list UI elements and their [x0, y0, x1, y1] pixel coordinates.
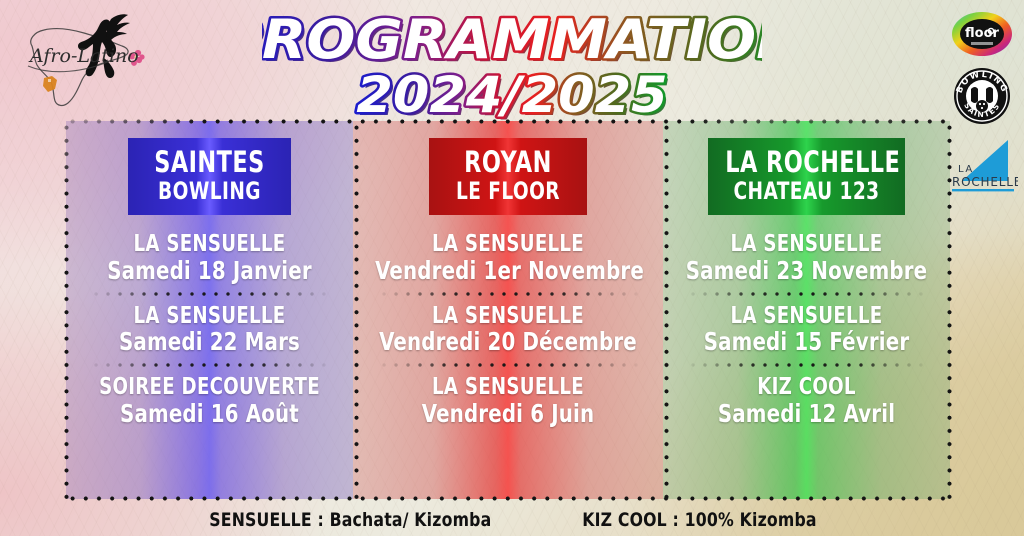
- event-item: LA SENSUELLE Samedi 18 Janvier: [70, 231, 349, 283]
- event-separator: [687, 287, 927, 301]
- venue-header-la-rochelle: LA ROCHELLE CHATEAU 123: [708, 138, 905, 215]
- event-name: LA SENSUELLE: [375, 305, 641, 328]
- legend-value: 100% Kizomba: [685, 509, 817, 531]
- frame-border-bottom: [66, 495, 950, 502]
- le-floor-label: floor: [965, 26, 999, 41]
- event-item: LA SENSUELLE Vendredi 20 Décembre: [357, 303, 659, 355]
- brand-wordmark: Afro-Latino: [28, 45, 139, 67]
- event-name: LA SENSUELLE: [375, 233, 641, 256]
- title-line2: 2024/2025: [356, 66, 667, 124]
- event-item: LA SENSUELLE Samedi 23 Novembre: [667, 231, 946, 283]
- event-name: LA SENSUELLE: [87, 305, 333, 328]
- event-name: LA SENSUELLE: [375, 376, 641, 399]
- legend-separator: :: [312, 509, 330, 531]
- bowling-saintes-logo[interactable]: BOWLING SAINTES: [953, 67, 1011, 125]
- legend-term: KIZ COOL: [582, 509, 667, 531]
- afro-latino-logo: Afro-Latino: [8, 6, 158, 112]
- event-date: Samedi 23 Novembre: [684, 257, 930, 284]
- event-date: Vendredi 6 Juin: [375, 400, 641, 427]
- event-list: LA SENSUELLE Samedi 23 Novembre LA SENSU…: [663, 231, 950, 426]
- programme-frame: SAINTES BOWLING LA SENSUELLE Samedi 18 J…: [66, 121, 950, 499]
- title-line1: PROGRAMMATION: [262, 9, 762, 72]
- event-item: LA SENSUELLE Vendredi 6 Juin: [357, 374, 659, 426]
- la-rochelle-label-top: LA: [958, 164, 974, 175]
- event-separator: [90, 358, 330, 372]
- event-name: KIZ COOL: [684, 376, 930, 399]
- event-item: LA SENSUELLE Vendredi 1er Novembre: [357, 231, 659, 283]
- event-separator: [378, 358, 638, 372]
- event-name: LA SENSUELLE: [684, 305, 930, 328]
- la-rochelle-logo[interactable]: LA ROCHELLE: [946, 134, 1018, 198]
- venue-column-la-rochelle: LA ROCHELLE CHATEAU 123 LA SENSUELLE Sam…: [663, 121, 950, 499]
- event-separator: [687, 358, 927, 372]
- venue-place: CHATEAU 123: [725, 179, 888, 204]
- event-name: LA SENSUELLE: [87, 233, 333, 256]
- venue-logos-group: floor BOWLING SAINTES: [942, 10, 1022, 207]
- venue-header-saintes: SAINTES BOWLING: [128, 138, 291, 215]
- poster-header: Afro-Latino: [0, 0, 1024, 124]
- le-floor-logo[interactable]: floor: [951, 10, 1013, 58]
- event-separator: [90, 287, 330, 301]
- legend-value: Bachata/ Kizomba: [330, 509, 492, 531]
- venue-place: BOWLING: [143, 179, 276, 204]
- venue-header-royan: ROYAN LE FLOOR: [429, 138, 587, 215]
- event-date: Samedi 22 Mars: [87, 328, 333, 355]
- poster-title-block: PROGRAMMATION PROGRAMMATION 2024/2025 20…: [262, 8, 762, 124]
- event-date: Vendredi 20 Décembre: [375, 328, 641, 355]
- venue-city: ROYAN: [444, 148, 573, 177]
- event-name: LA SENSUELLE: [684, 233, 930, 256]
- event-date: Samedi 16 Août: [87, 400, 333, 427]
- event-list: LA SENSUELLE Vendredi 1er Novembre LA SE…: [353, 231, 663, 426]
- venue-column-royan: ROYAN LE FLOOR LA SENSUELLE Vendredi 1er…: [353, 121, 663, 499]
- legend-kiz-cool: KIZ COOL : 100% Kizomba: [582, 509, 817, 531]
- event-item: LA SENSUELLE Samedi 22 Mars: [70, 303, 349, 355]
- venue-place: LE FLOOR: [444, 179, 573, 204]
- legend-sensuelle: SENSUELLE : Bachata/ Kizomba: [209, 509, 491, 531]
- event-date: Samedi 18 Janvier: [87, 257, 333, 284]
- poster-canvas: Afro-Latino: [0, 0, 1024, 536]
- event-separator: [378, 287, 638, 301]
- event-list: LA SENSUELLE Samedi 18 Janvier LA SENSUE…: [66, 231, 353, 426]
- event-name: SOIREE DECOUVERTE: [87, 376, 333, 399]
- programme-columns: SAINTES BOWLING LA SENSUELLE Samedi 18 J…: [66, 121, 950, 499]
- event-date: Samedi 15 Février: [684, 328, 930, 355]
- event-item: LA SENSUELLE Samedi 15 Février: [667, 303, 946, 355]
- event-item: SOIREE DECOUVERTE Samedi 16 Août: [70, 374, 349, 426]
- frame-border-top: [66, 118, 950, 125]
- venue-city: SAINTES: [143, 148, 276, 177]
- legend-separator: :: [667, 509, 685, 531]
- legend-term: SENSUELLE: [209, 509, 312, 531]
- event-date: Vendredi 1er Novembre: [375, 257, 641, 284]
- event-item: KIZ COOL Samedi 12 Avril: [667, 374, 946, 426]
- poster-footer: SENSUELLE : Bachata/ Kizomba KIZ COOL : …: [0, 503, 1024, 536]
- venue-column-saintes: SAINTES BOWLING LA SENSUELLE Samedi 18 J…: [66, 121, 353, 499]
- venue-city: LA ROCHELLE: [725, 148, 888, 177]
- la-rochelle-label-bottom: ROCHELLE: [952, 175, 1018, 189]
- event-date: Samedi 12 Avril: [684, 400, 930, 427]
